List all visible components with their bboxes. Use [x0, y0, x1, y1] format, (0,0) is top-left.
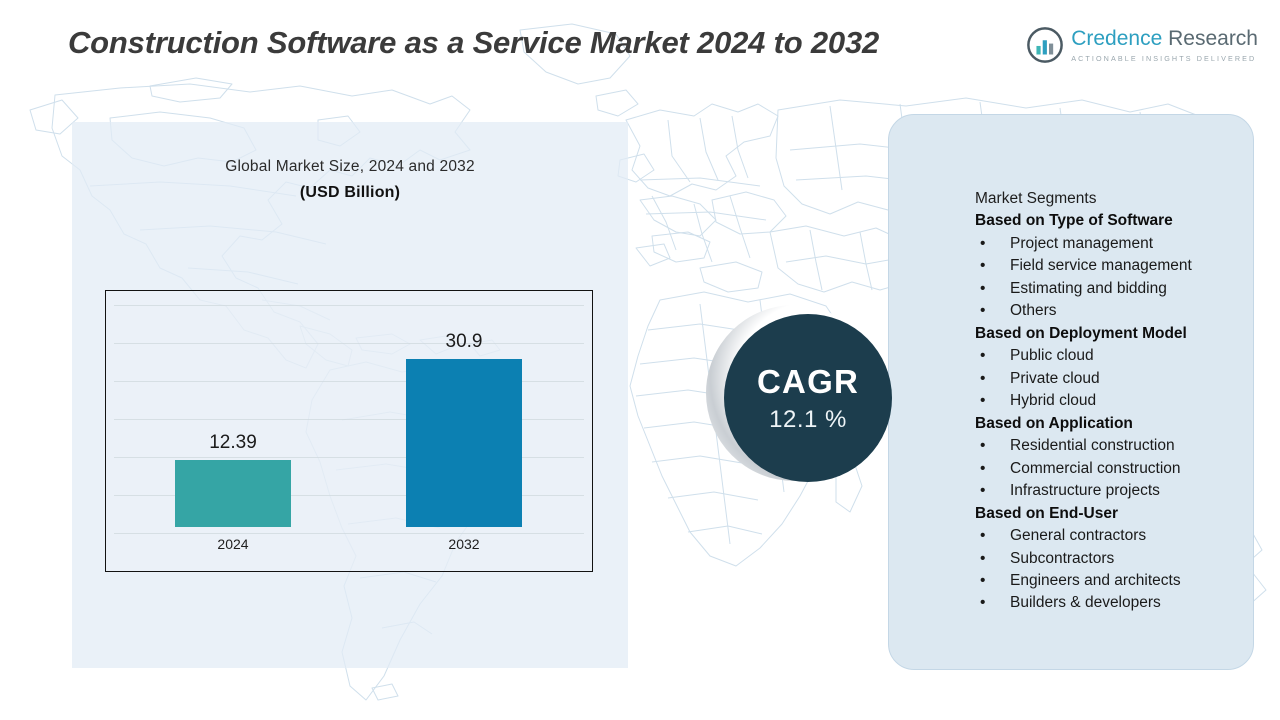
brand-name-part1: Credence — [1071, 27, 1162, 50]
segment-item-label: Project management — [1010, 233, 1265, 255]
segment-item-label: Hybrid cloud — [1010, 390, 1265, 412]
brand-logo-text: Credence Research ACTIONABLE INSIGHTS DE… — [1071, 28, 1258, 63]
bullet-icon: • — [975, 525, 1010, 547]
chart-plot-area: 12.39202430.92032 — [106, 291, 592, 571]
segment-item-label: Engineers and architects — [1010, 570, 1265, 592]
segment-item-label: Builders & developers — [1010, 592, 1265, 614]
cagr-label: CAGR — [757, 365, 859, 398]
bullet-icon: • — [975, 255, 1010, 277]
bullet-icon: • — [975, 480, 1010, 502]
chart-bar-fill — [175, 460, 291, 527]
segment-group-title: Based on Deployment Model — [975, 323, 1265, 345]
market-segments-list: Market Segments Based on Type of Softwar… — [975, 188, 1265, 615]
segment-list-item: •Estimating and bidding — [975, 278, 1265, 300]
bullet-icon: • — [975, 592, 1010, 614]
chart-caption: Global Market Size, 2024 and 2032 (USD B… — [72, 158, 628, 202]
chart-bar: 12.392024 — [175, 460, 291, 527]
segment-list-item: •Infrastructure projects — [975, 480, 1265, 502]
segment-item-label: Estimating and bidding — [1010, 278, 1265, 300]
bullet-icon: • — [975, 435, 1010, 457]
cagr-circle: CAGR 12.1 % — [724, 314, 892, 482]
segment-item-label: Private cloud — [1010, 368, 1265, 390]
chart-caption-line2: (USD Billion) — [72, 184, 628, 202]
bullet-icon: • — [975, 548, 1010, 570]
segment-item-label: Infrastructure projects — [1010, 480, 1265, 502]
segment-item-label: Commercial construction — [1010, 458, 1265, 480]
bullet-icon: • — [975, 458, 1010, 480]
bullet-icon: • — [975, 233, 1010, 255]
infographic-canvas: Global Market Size, 2024 and 2032 (USD B… — [0, 0, 1280, 720]
segment-group-title: Based on End-User — [975, 503, 1265, 525]
segment-list-item: •General contractors — [975, 525, 1265, 547]
chart-bar-fill — [406, 359, 522, 527]
bullet-icon: • — [975, 300, 1010, 322]
chart-bar-value-label: 30.9 — [446, 331, 483, 353]
bar-chart: 12.39202430.92032 — [105, 290, 593, 572]
segment-item-label: Others — [1010, 300, 1265, 322]
chart-caption-line1: Global Market Size, 2024 and 2032 — [72, 158, 628, 176]
segments-heading: Market Segments — [975, 188, 1265, 210]
chart-bar: 30.92032 — [406, 359, 522, 527]
chart-bar-value-label: 12.39 — [209, 432, 257, 454]
bullet-icon: • — [975, 345, 1010, 367]
segment-item-label: General contractors — [1010, 525, 1265, 547]
cagr-value: 12.1 % — [769, 408, 847, 432]
segment-list-item: •Project management — [975, 233, 1265, 255]
brand-tagline: ACTIONABLE INSIGHTS DELIVERED — [1071, 54, 1258, 63]
segment-item-label: Subcontractors — [1010, 548, 1265, 570]
segment-group-title: Based on Application — [975, 413, 1265, 435]
brand-name: Credence Research — [1071, 28, 1258, 49]
brand-logo[interactable]: Credence Research ACTIONABLE INSIGHTS DE… — [1026, 26, 1258, 64]
segment-list-item: •Private cloud — [975, 368, 1265, 390]
segment-list-item: •Others — [975, 300, 1265, 322]
bullet-icon: • — [975, 570, 1010, 592]
chart-category-label: 2032 — [448, 536, 479, 552]
page-title: Construction Software as a Service Marke… — [68, 24, 1088, 62]
segment-list-item: •Residential construction — [975, 435, 1265, 457]
segment-list-item: •Commercial construction — [975, 458, 1265, 480]
bullet-icon: • — [975, 390, 1010, 412]
segment-list-item: •Builders & developers — [975, 592, 1265, 614]
bullet-icon: • — [975, 278, 1010, 300]
cagr-badge: CAGR 12.1 % — [706, 305, 892, 491]
chart-category-label: 2024 — [217, 536, 248, 552]
segment-list-item: •Field service management — [975, 255, 1265, 277]
segment-item-label: Public cloud — [1010, 345, 1265, 367]
segment-list-item: •Subcontractors — [975, 548, 1265, 570]
brand-name-part2: Research — [1162, 27, 1258, 50]
bullet-icon: • — [975, 368, 1010, 390]
segment-list-item: •Engineers and architects — [975, 570, 1265, 592]
segment-group-title: Based on Type of Software — [975, 210, 1265, 232]
bar-chart-circle-icon — [1026, 26, 1064, 64]
segment-item-label: Field service management — [1010, 255, 1265, 277]
segment-item-label: Residential construction — [1010, 435, 1265, 457]
segment-list-item: •Public cloud — [975, 345, 1265, 367]
segment-list-item: •Hybrid cloud — [975, 390, 1265, 412]
